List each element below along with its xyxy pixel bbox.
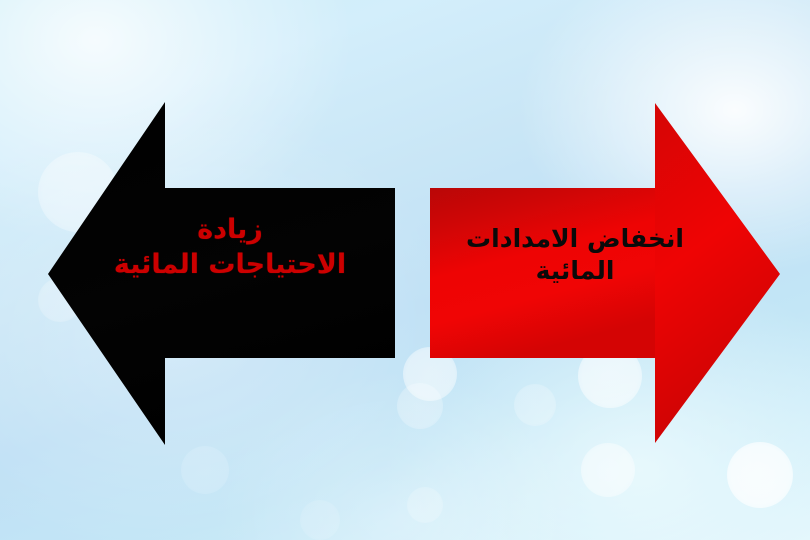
arrow-left-caption-line-2: الاحتياجات المائية xyxy=(60,251,400,280)
diagram-canvas: زيادة الاحتياجات المائية انخفاض الامدادا… xyxy=(0,0,810,540)
arrow-right-caption-line-2: المائية xyxy=(430,258,720,285)
arrow-right-caption: انخفاض الامدادات المائية xyxy=(430,226,720,284)
arrow-right-caption-line-1: انخفاض الامدادات xyxy=(430,226,720,253)
arrow-left-caption: زيادة الاحتياجات المائية xyxy=(60,216,400,279)
arrow-left-caption-line-1: زيادة xyxy=(60,216,400,245)
